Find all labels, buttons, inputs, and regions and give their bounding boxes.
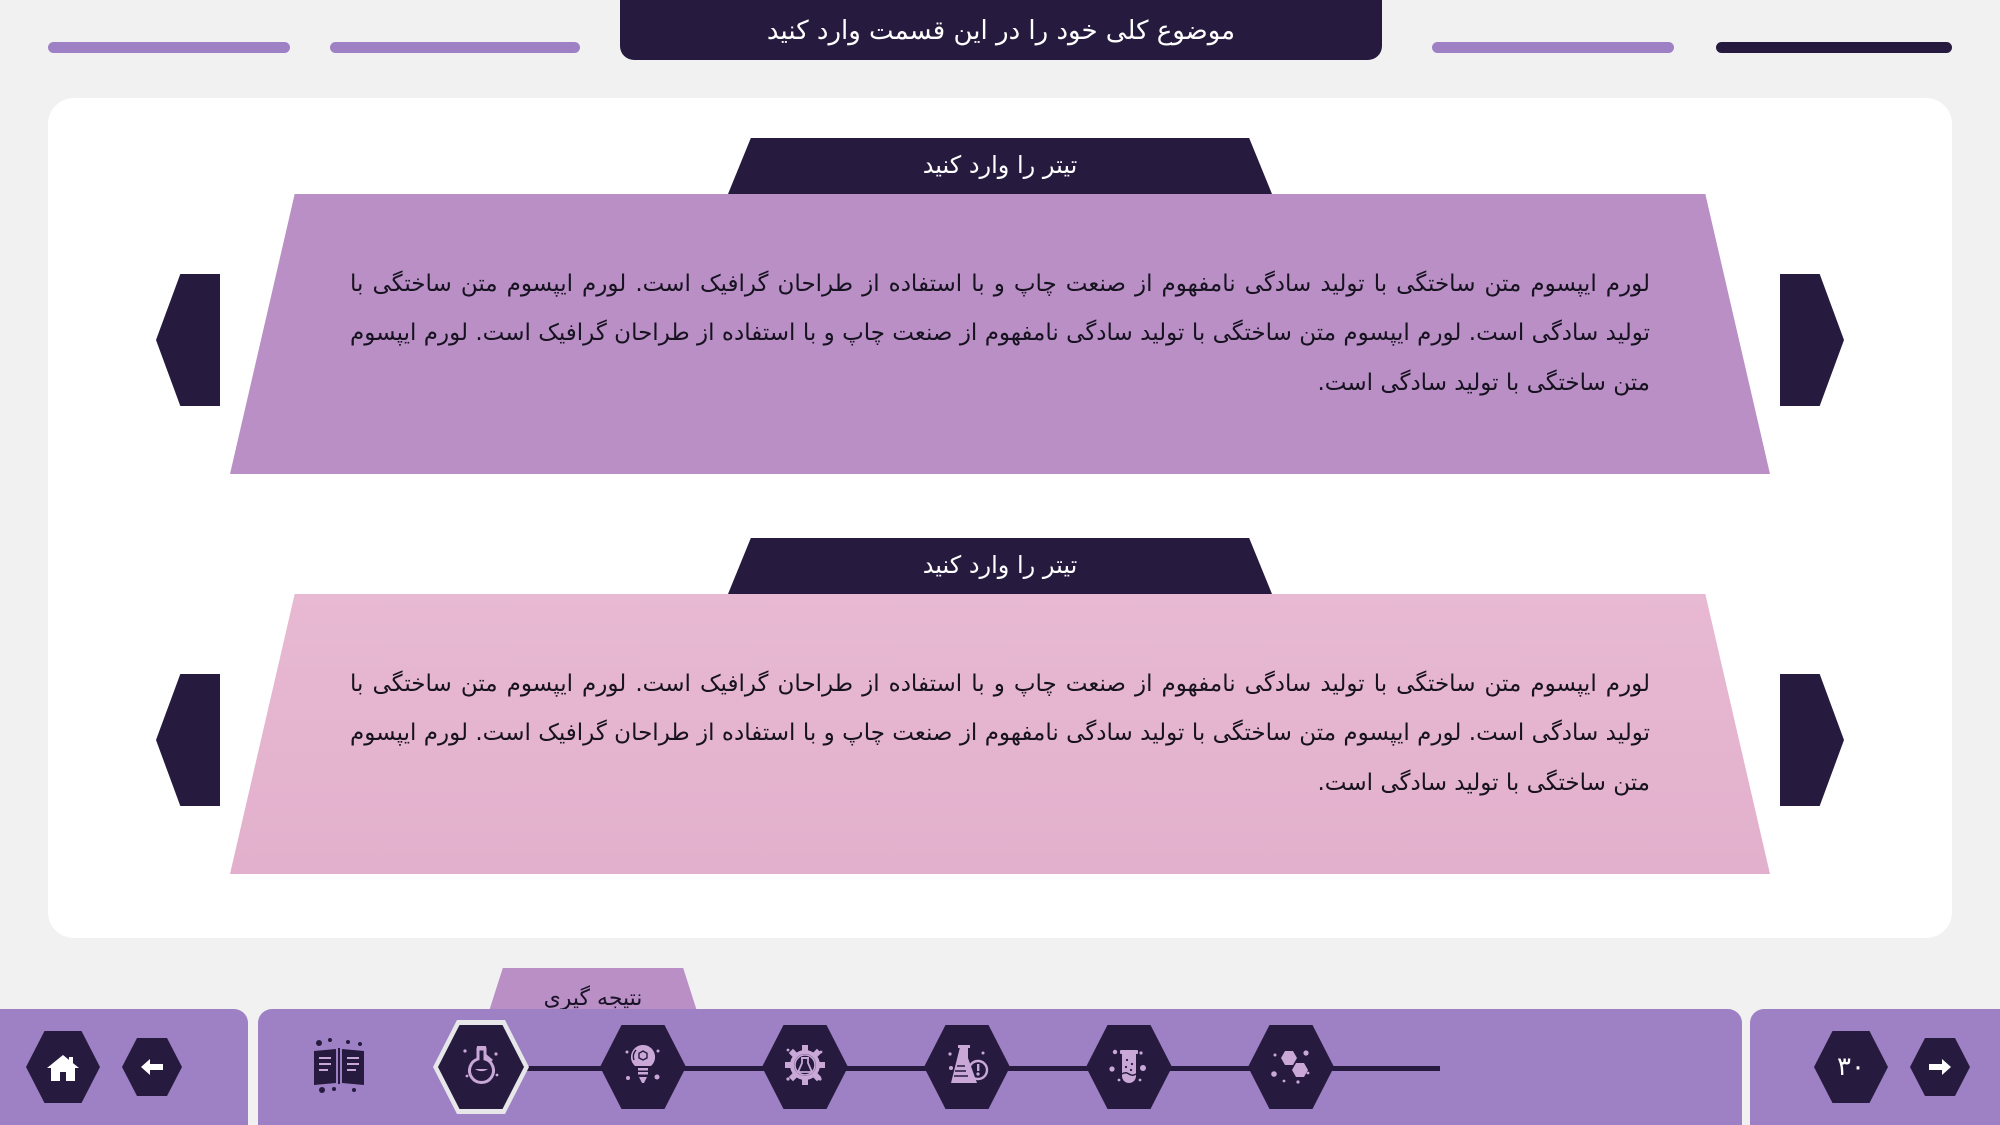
progress-node-erlenmeyer[interactable] xyxy=(924,1025,1010,1109)
chevron-left-icon-1 xyxy=(156,274,220,406)
progress-node-test-tube[interactable] xyxy=(1086,1025,1172,1109)
footer-right-controls: ۳۰ xyxy=(1814,1031,1970,1103)
footer-left-panel xyxy=(0,1009,248,1125)
slide-root: موضوع کلی خود را در این قسمت وارد کنید ت… xyxy=(0,0,2000,1125)
progress-node-gear-flask[interactable] xyxy=(762,1025,848,1109)
content-section-2: تیتر را وارد کنید لورم ایپسوم متن ساختگی… xyxy=(48,538,1952,884)
header-title: موضوع کلی خود را در این قسمت وارد کنید xyxy=(767,18,1235,44)
open-book-icon xyxy=(310,1037,368,1097)
conclusion-tab-label: نتیجه گیری xyxy=(544,988,643,1010)
gear-flask-icon xyxy=(782,1042,828,1092)
home-button[interactable] xyxy=(26,1031,100,1103)
footer-progress-panel xyxy=(258,1009,1742,1125)
deco-bar-left-1 xyxy=(48,42,290,53)
deco-bar-left-2 xyxy=(330,42,580,53)
section-2-body-text: لورم ایپسوم متن ساختگی با تولید سادگی نا… xyxy=(350,660,1650,808)
chevron-right-icon-2 xyxy=(1780,674,1844,806)
content-section-1: تیتر را وارد کنید لورم ایپسوم متن ساختگی… xyxy=(48,138,1952,484)
molecule-hex-icon xyxy=(1268,1043,1314,1091)
forward-button[interactable] xyxy=(1910,1038,1970,1096)
home-icon xyxy=(46,1051,80,1083)
page-number-label: ۳۰ xyxy=(1837,1054,1865,1080)
deco-bar-right-2 xyxy=(1716,42,1952,53)
section-1-body-box[interactable]: لورم ایپسوم متن ساختگی با تولید سادگی نا… xyxy=(230,194,1770,474)
chevron-right-icon-1 xyxy=(1780,274,1844,406)
erlenmeyer-flask-icon xyxy=(944,1042,990,1092)
flask-round-icon xyxy=(458,1042,504,1092)
forward-arrow-icon xyxy=(1926,1056,1954,1078)
section-1-title-tab[interactable]: تیتر را وارد کنید xyxy=(728,138,1272,194)
footer-right-panel: ۳۰ xyxy=(1750,1009,2000,1125)
section-1-body-wrap: لورم ایپسوم متن ساختگی با تولید سادگی نا… xyxy=(48,194,1952,484)
page-number-badge: ۳۰ xyxy=(1814,1031,1888,1103)
section-1-title: تیتر را وارد کنید xyxy=(923,153,1078,177)
content-card: تیتر را وارد کنید لورم ایپسوم متن ساختگی… xyxy=(48,98,1952,938)
section-2-title-tab[interactable]: تیتر را وارد کنید xyxy=(728,538,1272,594)
section-2-title: تیتر را وارد کنید xyxy=(923,553,1078,577)
chevron-left-icon-2 xyxy=(156,674,220,806)
test-tube-icon xyxy=(1107,1042,1151,1092)
footer-left-controls xyxy=(26,1031,182,1103)
progress-node-lightbulb[interactable] xyxy=(600,1025,686,1109)
progress-node-molecules[interactable] xyxy=(1248,1025,1334,1109)
section-1-body-text: لورم ایپسوم متن ساختگی با تولید سادگی نا… xyxy=(350,260,1650,408)
progress-chain xyxy=(258,1009,1742,1125)
lightbulb-molecule-icon xyxy=(621,1042,665,1092)
deco-bar-right-1 xyxy=(1432,42,1674,53)
header-banner[interactable]: موضوع کلی خود را در این قسمت وارد کنید xyxy=(620,0,1382,60)
section-2-body-box[interactable]: لورم ایپسوم متن ساختگی با تولید سادگی نا… xyxy=(230,594,1770,874)
back-arrow-icon xyxy=(138,1056,166,1078)
section-2-body-wrap: لورم ایپسوم متن ساختگی با تولید سادگی نا… xyxy=(48,594,1952,884)
back-button[interactable] xyxy=(122,1038,182,1096)
